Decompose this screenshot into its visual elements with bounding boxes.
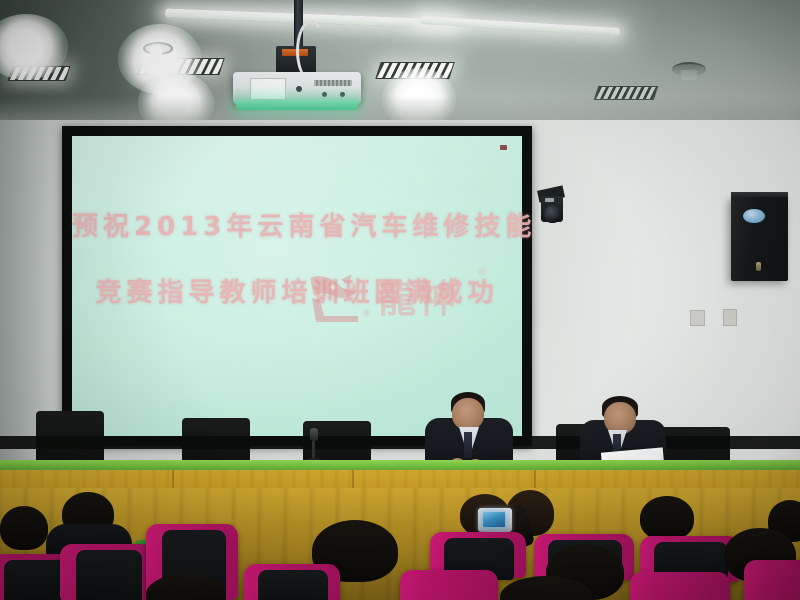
official-left-head [452, 398, 484, 430]
audience-seat-near-4-inner [258, 570, 328, 600]
ceiling-vent-stub [681, 70, 697, 80]
slide-text-line-1: 预祝2013年云南省汽车维修技能 [72, 206, 522, 243]
attendee-head-back-5 [640, 496, 694, 540]
wall-plate-left [690, 310, 705, 326]
audience-seat-near-6[interactable] [630, 572, 730, 600]
projector-knob-b [322, 92, 327, 97]
projector-lens-panel [250, 78, 286, 100]
wall-camera-highlight [545, 198, 554, 202]
audience-seat-near-5[interactable] [400, 570, 498, 600]
microphone-head [310, 428, 318, 441]
speaker-screw [756, 262, 761, 271]
chair-rail [0, 436, 800, 449]
speaker-badge-icon [743, 209, 765, 223]
screen-frame-indicator [500, 145, 507, 150]
slide-text-line-2: 竞赛指导教师培训班圆满成功 [72, 272, 522, 309]
audience-seat-near-1-inner [4, 560, 68, 600]
wall-plate-right [723, 309, 737, 326]
wall-camera-lens [544, 205, 561, 223]
audience-seat-near-7[interactable] [744, 560, 800, 600]
audience-seat-near-2-inner [76, 550, 142, 600]
official-right-head [604, 402, 636, 434]
official-left-tie [464, 432, 472, 458]
projector-knob-c [340, 92, 345, 97]
projector-vent [314, 80, 352, 86]
photo-scene: 预祝2013年云南省汽车维修技能 竞赛指导教师培训班圆满成功 ® 龍神 ® [0, 0, 800, 600]
attendee-head-back-2 [0, 506, 48, 550]
projector-status-glow [236, 100, 358, 110]
projector-knob-a [296, 86, 302, 92]
downlight-core-left [150, 46, 162, 58]
camera-lcd-screen [483, 512, 505, 527]
downlight-core-right [14, 34, 25, 45]
